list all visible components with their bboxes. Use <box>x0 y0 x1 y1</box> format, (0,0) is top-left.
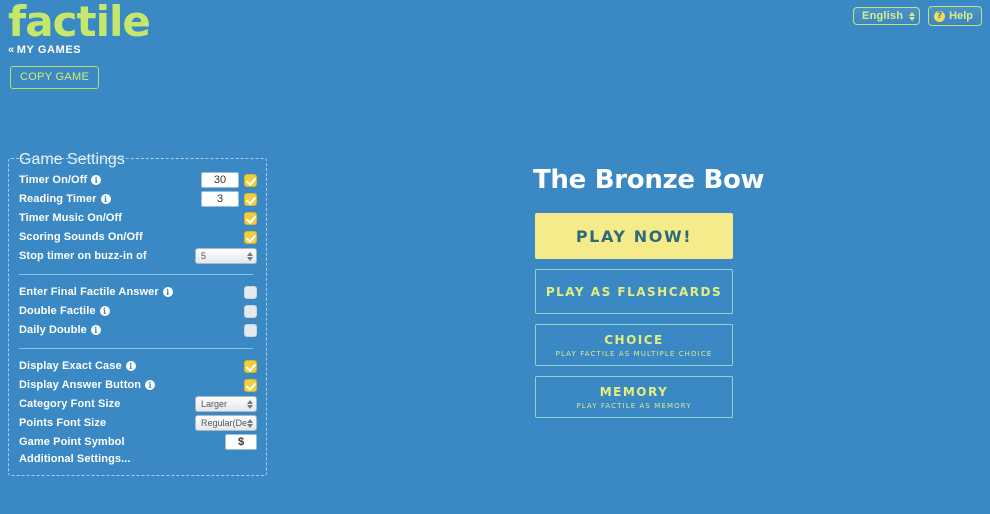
info-icon[interactable]: i <box>126 361 136 371</box>
setting-row-display-exact-case: Display Exact Casei <box>19 357 257 375</box>
double-chevron-left-icon: « <box>8 44 15 56</box>
chevron-updown-icon <box>247 252 253 261</box>
chevron-updown-icon <box>247 400 253 409</box>
timer-duration-input[interactable] <box>201 172 239 188</box>
reading-timer-input[interactable] <box>201 191 239 207</box>
setting-label: Points Font Size <box>19 417 195 429</box>
button-sublabel: PLAY FACTILE AS MULTIPLE CHOICE <box>556 350 713 358</box>
display-answer-button-checkbox[interactable] <box>244 379 257 392</box>
setting-label: Display Exact Case <box>19 360 122 372</box>
setting-label: Display Answer Button <box>19 379 141 391</box>
game-settings-panel: Timer On/Offi Reading Timeri Timer Music… <box>8 158 267 476</box>
setting-label: Category Font Size <box>19 398 195 410</box>
copy-game-button[interactable]: COPY GAME <box>10 66 99 89</box>
display-exact-case-checkbox[interactable] <box>244 360 257 373</box>
button-label: PLAY AS FLASHCARDS <box>546 285 722 299</box>
info-icon[interactable]: i <box>163 287 173 297</box>
stop-timer-buzzin-select[interactable]: 5 <box>195 248 257 264</box>
setting-row-reading-timer: Reading Timeri <box>19 190 257 208</box>
setting-row-scoring-sounds: Scoring Sounds On/Off <box>19 228 257 246</box>
my-games-label: MY GAMES <box>17 44 82 56</box>
setting-row-category-font-size: Category Font Size Larger <box>19 395 257 413</box>
setting-label: Game Point Symbol <box>19 436 225 448</box>
game-panel: The Bronze Bow PLAY NOW! PLAY AS FLASHCA… <box>535 165 733 418</box>
setting-label: Scoring Sounds On/Off <box>19 231 244 243</box>
setting-row-display-answer-button: Display Answer Buttoni <box>19 376 257 394</box>
double-factile-checkbox[interactable] <box>244 305 257 318</box>
page-title: The Bronze Bow <box>533 165 733 195</box>
setting-row-stop-timer-buzzin: Stop timer on buzz-in of 5 <box>19 247 257 265</box>
select-value: Larger <box>201 399 227 409</box>
play-now-button[interactable]: PLAY NOW! <box>535 213 733 259</box>
setting-label: Double Factile <box>19 305 96 317</box>
help-label: Help <box>949 10 973 22</box>
select-value: 5 <box>201 251 206 261</box>
timer-music-checkbox[interactable] <box>244 212 257 225</box>
help-button[interactable]: ? Help <box>928 6 982 26</box>
language-select[interactable]: English <box>853 7 920 25</box>
play-as-memory-button[interactable]: MEMORY PLAY FACTILE AS MEMORY <box>535 376 733 418</box>
points-font-size-select[interactable]: Regular(Defa <box>195 415 257 431</box>
setting-row-double-factile: Double Factilei <box>19 302 257 320</box>
setting-row-timer-onoff: Timer On/Offi <box>19 171 257 189</box>
final-factile-answer-checkbox[interactable] <box>244 286 257 299</box>
settings-divider-2 <box>19 348 253 349</box>
reading-timer-checkbox[interactable] <box>244 193 257 206</box>
info-icon[interactable]: i <box>91 325 101 335</box>
setting-row-final-factile-answer: Enter Final Factile Answeri <box>19 283 257 301</box>
info-icon[interactable]: i <box>145 380 155 390</box>
info-icon[interactable]: i <box>91 175 101 185</box>
setting-label: Reading Timer <box>19 193 97 205</box>
setting-label: Timer On/Off <box>19 174 87 186</box>
setting-row-game-point-symbol: Game Point Symbol <box>19 433 257 451</box>
setting-row-points-font-size: Points Font Size Regular(Defa <box>19 414 257 432</box>
setting-label: Timer Music On/Off <box>19 212 244 224</box>
setting-row-daily-double: Daily Doublei <box>19 321 257 339</box>
category-font-size-select[interactable]: Larger <box>195 396 257 412</box>
my-games-link[interactable]: «MY GAMES <box>8 44 81 56</box>
header-controls: English ? Help <box>853 6 982 26</box>
button-sublabel: PLAY FACTILE AS MEMORY <box>576 402 691 410</box>
play-as-flashcards-button[interactable]: PLAY AS FLASHCARDS <box>535 269 733 314</box>
scoring-sounds-checkbox[interactable] <box>244 231 257 244</box>
language-value: English <box>862 10 903 22</box>
button-label: CHOICE <box>604 333 664 347</box>
play-as-choice-button[interactable]: CHOICE PLAY FACTILE AS MULTIPLE CHOICE <box>535 324 733 366</box>
setting-label: Enter Final Factile Answer <box>19 286 159 298</box>
settings-divider-1 <box>19 274 253 275</box>
setting-label: Stop timer on buzz-in of <box>19 250 195 262</box>
daily-double-checkbox[interactable] <box>244 324 257 337</box>
chevron-updown-icon <box>909 12 915 21</box>
info-icon[interactable]: i <box>100 306 110 316</box>
info-icon[interactable]: i <box>101 194 111 204</box>
factile-logo[interactable]: factile <box>8 0 150 48</box>
game-point-symbol-input[interactable] <box>225 434 257 450</box>
setting-row-timer-music: Timer Music On/Off <box>19 209 257 227</box>
additional-settings-link[interactable]: Additional Settings... <box>19 453 257 465</box>
button-label: MEMORY <box>600 385 669 399</box>
setting-label: Daily Double <box>19 324 87 336</box>
question-mark-icon: ? <box>934 11 945 22</box>
select-value: Regular(Defa <box>201 418 247 428</box>
timer-onoff-checkbox[interactable] <box>244 174 257 187</box>
chevron-updown-icon <box>247 419 253 428</box>
